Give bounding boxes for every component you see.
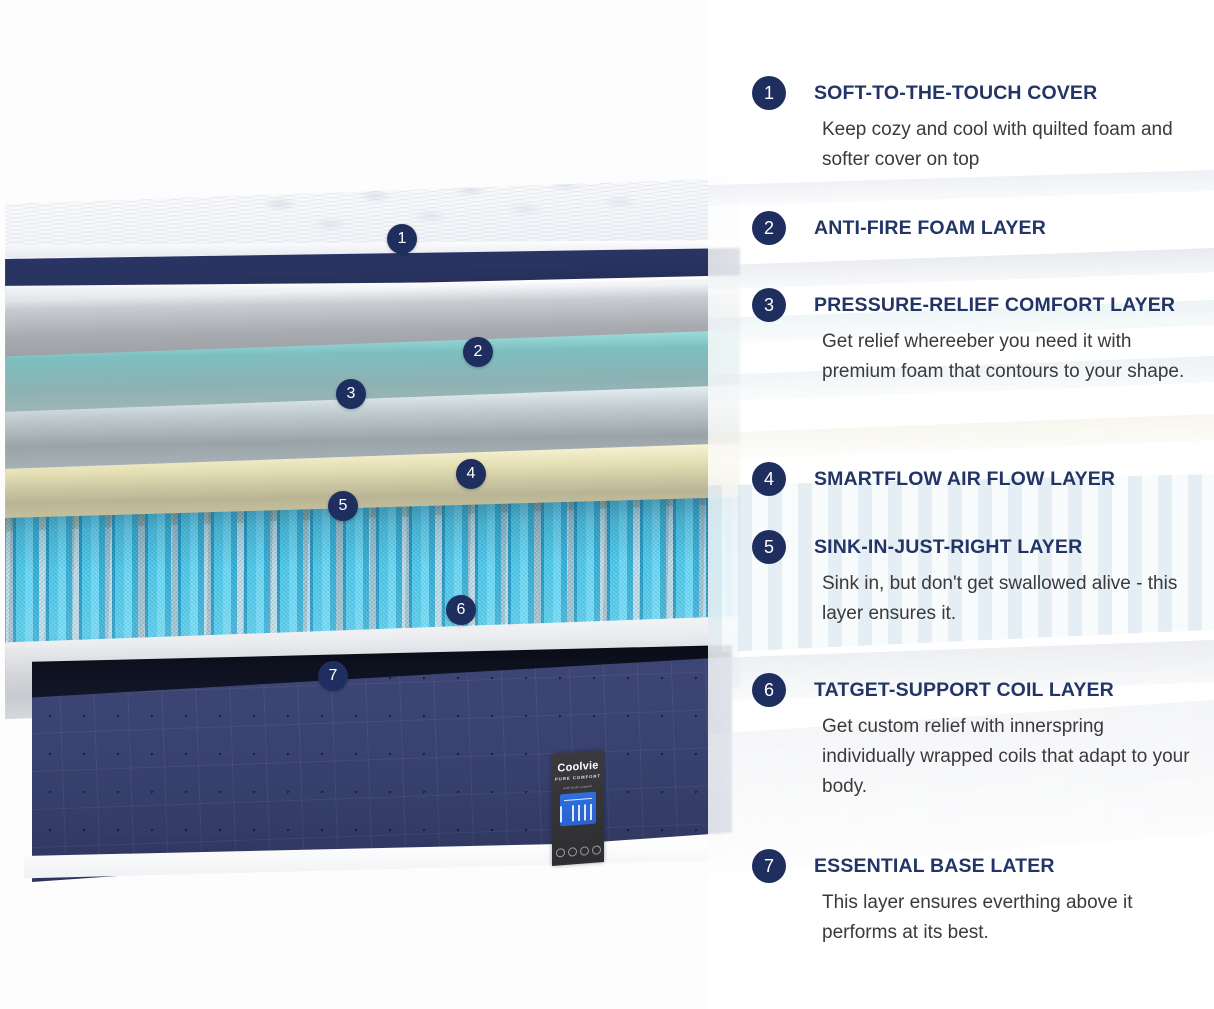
- diagram-callout-7[interactable]: 7: [318, 661, 348, 691]
- diagram-callout-4[interactable]: 4: [456, 459, 486, 489]
- layer-entry-3[interactable]: 3 PRESSURE-RELIEF COMFORT LAYER Get reli…: [752, 288, 1204, 387]
- brand-tag-note: with body support: [552, 783, 604, 791]
- layer-badge-1: 1: [752, 76, 786, 110]
- layer-title-6: TATGET-SUPPORT COIL LAYER: [814, 673, 1204, 707]
- tag-care-icons: [552, 845, 604, 858]
- layer-badge-2: 2: [752, 211, 786, 245]
- diagram-callout-1[interactable]: 1: [387, 224, 417, 254]
- layer-description-5: Sink in, but don't get swallowed alive -…: [822, 569, 1202, 629]
- layer-title-2: ANTI-FIRE FOAM LAYER: [814, 211, 1204, 245]
- ghost-slab-5: [708, 414, 1214, 462]
- layer-description-6: Get custom relief with innerspring indiv…: [822, 712, 1202, 802]
- layer-badge-7: 7: [752, 849, 786, 883]
- layer-title-5: SINK-IN-JUST-RIGHT LAYER: [814, 530, 1204, 564]
- layer-description-3: Get relief whereeber you need it with pr…: [822, 327, 1202, 387]
- layer-badge-3: 3: [752, 288, 786, 322]
- layer-title-1: SOFT-TO-THE-TOUCH COVER: [814, 76, 1204, 110]
- layer-description-1: Keep cozy and cool with quilted foam and…: [822, 115, 1202, 175]
- ghost-slab-1: [708, 170, 1214, 208]
- layer-entry-4[interactable]: 4 SMARTFLOW AIR FLOW LAYER: [752, 462, 1204, 496]
- tag-illustration: [560, 792, 596, 827]
- diagram-callout-3[interactable]: 3: [336, 379, 366, 409]
- layer-entry-7[interactable]: 7 ESSENTIAL BASE LATER This layer ensure…: [752, 849, 1204, 948]
- layer-entry-6[interactable]: 6 TATGET-SUPPORT COIL LAYER Get custom r…: [752, 673, 1204, 802]
- diagram-callout-5[interactable]: 5: [328, 491, 358, 521]
- layer-title-7: ESSENTIAL BASE LATER: [814, 849, 1204, 883]
- mattress-layer-infographic: Coolvie PURE COMFORT with body support 1…: [0, 0, 1214, 1009]
- layer-entry-2[interactable]: 2 ANTI-FIRE FOAM LAYER: [752, 211, 1204, 245]
- layer-badge-5: 5: [752, 530, 786, 564]
- diagram-callout-2[interactable]: 2: [463, 337, 493, 367]
- layer-entry-5[interactable]: 5 SINK-IN-JUST-RIGHT LAYER Sink in, but …: [752, 530, 1204, 629]
- layer-title-3: PRESSURE-RELIEF COMFORT LAYER: [814, 288, 1204, 322]
- diagram-callout-6[interactable]: 6: [446, 595, 476, 625]
- layer-description-7: This layer ensures everthing above it pe…: [822, 888, 1202, 948]
- layer-title-4: SMARTFLOW AIR FLOW LAYER: [814, 462, 1204, 496]
- ghost-slab-2: [708, 248, 1214, 292]
- layer-description-panel: 1 SOFT-TO-THE-TOUCH COVER Keep cozy and …: [708, 0, 1214, 1009]
- layer-badge-4: 4: [752, 462, 786, 496]
- layer-entry-1[interactable]: 1 SOFT-TO-THE-TOUCH COVER Keep cozy and …: [752, 76, 1204, 175]
- layer-badge-6: 6: [752, 673, 786, 707]
- brand-tag: Coolvie PURE COMFORT with body support: [552, 750, 604, 866]
- mattress-base-block: [10, 645, 730, 905]
